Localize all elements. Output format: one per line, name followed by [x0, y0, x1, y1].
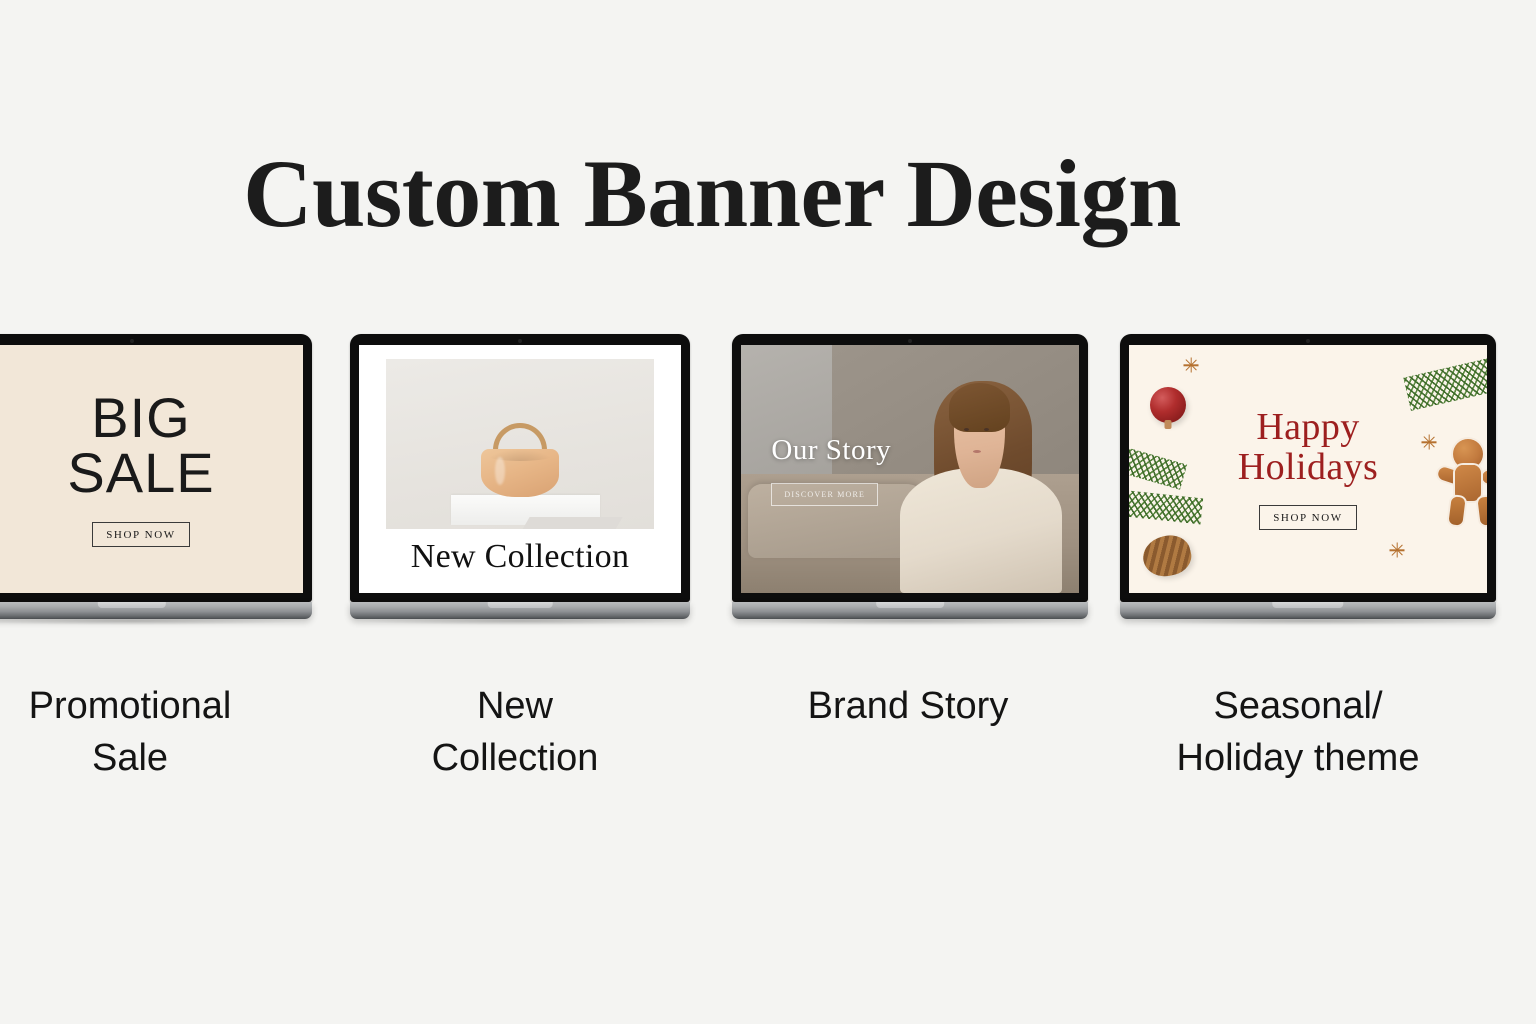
gingerbread-leg-right — [1478, 496, 1487, 525]
banner-brand-story: Our Story DISCOVER MORE — [741, 345, 1079, 593]
gingerbread-man-icon — [1439, 439, 1487, 525]
pine-needles — [1403, 357, 1487, 411]
trackpad-notch — [876, 602, 944, 608]
trackpad-notch — [98, 602, 166, 608]
sparkle-icon — [1183, 357, 1199, 373]
holiday-headline-line2: Holidays — [1238, 448, 1378, 487]
caption-promotional-sale: Promotional Sale — [0, 680, 260, 785]
story-overlay: Our Story DISCOVER MORE — [771, 434, 891, 506]
laptop-lid: New Collection — [350, 334, 690, 602]
caption-brand-story: Brand Story — [778, 680, 1038, 732]
webcam-icon — [518, 339, 522, 343]
laptop-mockup-promotional-sale: BIG SALE SHOP NOW — [0, 334, 312, 619]
pine-branch-icon — [1129, 444, 1187, 489]
laptop-base — [350, 602, 690, 619]
laptop-lid: Our Story DISCOVER MORE — [732, 334, 1088, 602]
laptop-shadow — [743, 617, 1078, 625]
laptop-screen: Happy Holidays SHOP NOW — [1129, 345, 1487, 593]
hair-front — [949, 383, 1010, 432]
laptop-mockup-row: BIG SALE SHOP NOW — [0, 334, 1536, 634]
gingerbread-arm-right — [1481, 466, 1487, 485]
handbag-body — [481, 449, 559, 497]
laptop-base — [0, 602, 312, 619]
laptop-mockup-brand-story: Our Story DISCOVER MORE — [732, 334, 1088, 619]
gingerbread-leg-left — [1448, 496, 1465, 525]
webcam-icon — [908, 339, 912, 343]
banner-seasonal-holiday: Happy Holidays SHOP NOW — [1129, 345, 1487, 593]
laptop-mockup-new-collection: New Collection — [350, 334, 690, 619]
discover-more-button[interactable]: DISCOVER MORE — [771, 483, 878, 506]
trackpad-notch — [1272, 602, 1343, 608]
pine-needles — [1129, 444, 1187, 489]
sale-headline-line1: BIG — [67, 391, 214, 446]
pedestal — [451, 495, 601, 525]
holiday-headline-line1: Happy — [1238, 408, 1378, 447]
caption-seasonal-holiday: Seasonal/ Holiday theme — [1112, 680, 1484, 785]
holiday-headline: Happy Holidays — [1238, 408, 1378, 486]
shop-now-button[interactable]: SHOP NOW — [1259, 505, 1357, 530]
sale-headline-line2: SALE — [67, 446, 214, 501]
pinecone-icon — [1139, 530, 1195, 580]
laptop-shadow — [1131, 617, 1484, 625]
product-stage — [386, 359, 653, 529]
sparkle-icon — [1421, 434, 1437, 450]
gingerbread-torso — [1455, 465, 1481, 501]
caption-row: Promotional Sale New Collection Brand St… — [0, 680, 1536, 800]
laptop-shadow — [360, 617, 680, 625]
laptop-shadow — [0, 617, 301, 625]
laptop-base — [732, 602, 1088, 619]
page-title: Custom Banner Design — [0, 138, 1424, 249]
christmas-ornament-icon — [1150, 387, 1186, 423]
eye-left — [964, 428, 969, 431]
collection-headline: New Collection — [411, 538, 630, 576]
handbag-image — [476, 423, 564, 497]
laptop-mockup-seasonal-holiday: Happy Holidays SHOP NOW — [1120, 334, 1496, 619]
laptop-lid: Happy Holidays SHOP NOW — [1120, 334, 1496, 602]
webcam-icon — [1306, 339, 1310, 343]
laptop-lid: BIG SALE SHOP NOW — [0, 334, 312, 602]
banner-new-collection: New Collection — [359, 345, 681, 593]
laptop-screen: Our Story DISCOVER MORE — [741, 345, 1079, 593]
caption-new-collection: New Collection — [385, 680, 645, 785]
story-headline: Our Story — [771, 434, 891, 467]
pine-needles — [1129, 489, 1203, 524]
trackpad-notch — [488, 602, 553, 608]
sparkle-icon — [1389, 542, 1405, 558]
pine-branch-icon — [1129, 489, 1203, 524]
sale-headline: BIG SALE — [67, 391, 214, 501]
laptop-screen: New Collection — [359, 345, 681, 593]
banner-promotional-sale: BIG SALE SHOP NOW — [0, 345, 303, 593]
webcam-icon — [130, 339, 134, 343]
handbag-highlight — [495, 457, 505, 485]
laptop-base — [1120, 602, 1496, 619]
mouth — [973, 450, 981, 453]
person-photo — [896, 370, 1065, 593]
shop-now-button[interactable]: SHOP NOW — [92, 522, 190, 547]
laptop-screen: BIG SALE SHOP NOW — [0, 345, 303, 593]
pine-branch-icon — [1403, 357, 1487, 411]
